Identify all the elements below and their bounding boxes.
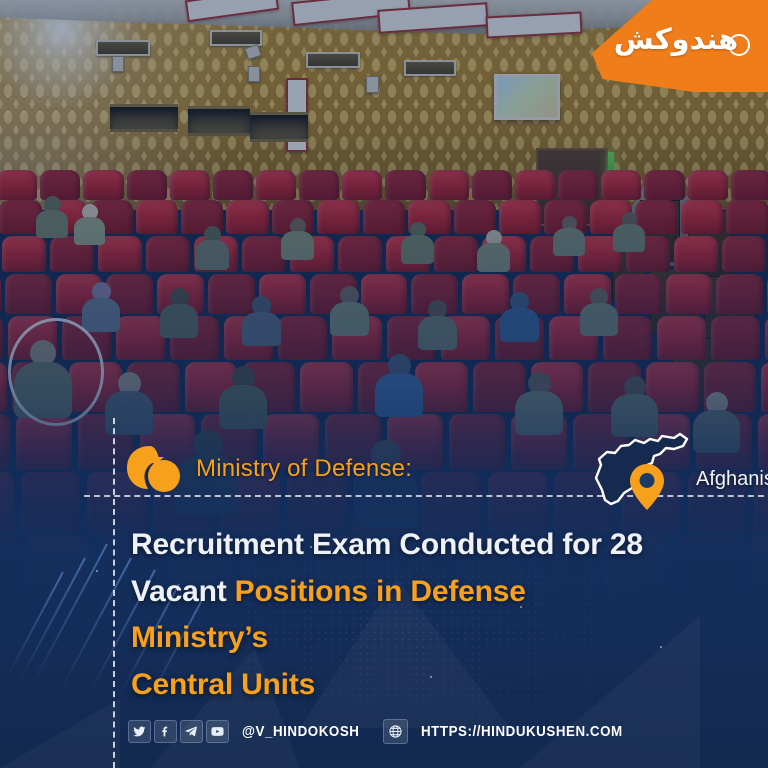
headline-line-3: Central Units: [131, 662, 651, 709]
headline-line-2-white: Vacant: [131, 575, 235, 608]
social-links: [128, 720, 229, 743]
logo-text: هندوکش: [592, 22, 760, 56]
twitter-icon[interactable]: [128, 720, 151, 743]
headline-line-2: Vacant Positions in Defense Ministry’s: [131, 569, 651, 662]
location-label: Afghanistan: [696, 468, 768, 491]
headline-line-3-orange: Central Units: [131, 668, 315, 701]
location-pin-icon: [630, 464, 664, 510]
youtube-icon[interactable]: [206, 720, 229, 743]
vertical-dashed-guide: [113, 418, 115, 768]
hindukosh-logo[interactable]: هندوکش: [592, 0, 768, 92]
kicker-block: Ministry of Defense:: [124, 443, 412, 495]
telegram-icon[interactable]: [180, 720, 203, 743]
headline-line-1: Recruitment Exam Conducted for 28: [131, 522, 651, 569]
facebook-icon[interactable]: [154, 720, 177, 743]
globe-icon: [383, 719, 408, 744]
quote-bubble-icon: [124, 443, 182, 495]
kicker-label: Ministry of Defense:: [196, 455, 412, 483]
social-handle[interactable]: @V_HINDOKOSH: [242, 724, 359, 740]
footer-bar: @V_HINDOKOSH HTTPS://HINDUKUSHEN.COM: [0, 719, 768, 744]
headline: Recruitment Exam Conducted for 28 Vacant…: [131, 522, 651, 708]
website-url[interactable]: HTTPS://HINDUKUSHEN.COM: [421, 724, 623, 740]
headline-line-1-text: Recruitment Exam Conducted for 28: [131, 528, 643, 561]
news-card: هندوکش Ministry of Defense: Recruitment …: [0, 0, 768, 768]
location-badge: Afghanistan: [588, 428, 768, 518]
